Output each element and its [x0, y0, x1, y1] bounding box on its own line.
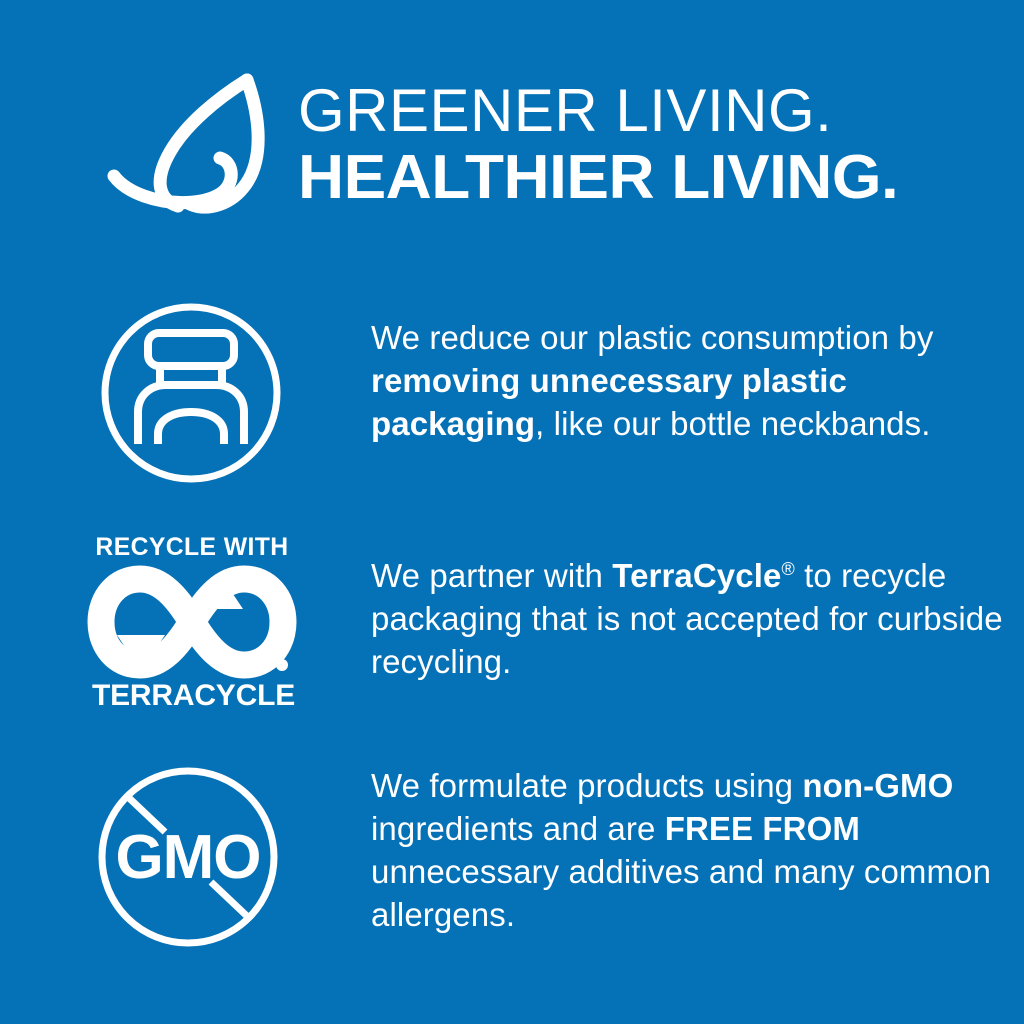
- header: GREENER LIVING. HEALTHIER LIVING.: [0, 0, 1024, 250]
- text-segment: We partner with: [371, 557, 612, 594]
- feature-row-gmo: GMO We formulate products using non-GMO …: [0, 760, 1024, 955]
- text-segment-bold: FREE FROM: [665, 810, 860, 847]
- text-segment: , like our bottle neckbands.: [535, 405, 930, 442]
- icon-cell-plastic: [0, 295, 300, 500]
- text-segment: We reduce our plastic consumption by: [371, 319, 933, 356]
- recycle-infinity-loop-icon: [91, 567, 293, 677]
- icon-cell-terracycle: RECYCLE WITH TERRACYCLE: [0, 530, 300, 715]
- terracycle-logo-icon: RECYCLE WITH TERRACYCLE: [92, 535, 292, 713]
- headline-line-2: HEALTHIER LIVING.: [298, 144, 1019, 212]
- feature-text-terracycle: We partner with TerraCycle® to recycle p…: [371, 554, 1004, 683]
- feature-text-plastic: We reduce our plastic consumption by rem…: [371, 316, 1004, 445]
- bottle-neckband-icon: [98, 300, 284, 486]
- leaf-icon: [108, 72, 288, 227]
- text-segment-bold: non-GMO: [802, 767, 953, 804]
- feature-text-gmo: We formulate products using non-GMO ingr…: [371, 764, 1004, 936]
- text-segment: unnecessary additives and many common al…: [371, 853, 991, 933]
- headline-block: GREENER LIVING. HEALTHIER LIVING.: [298, 80, 998, 212]
- text-cell-terracycle: We partner with TerraCycle® to recycle p…: [300, 530, 1024, 683]
- infographic-canvas: GREENER LIVING. HEALTHIER LIVING.: [0, 0, 1024, 1024]
- text-cell-gmo: We formulate products using non-GMO ingr…: [300, 760, 1024, 936]
- feature-row-terracycle: RECYCLE WITH TERRACYCLE: [0, 530, 1024, 715]
- text-cell-plastic: We reduce our plastic consumption by rem…: [300, 295, 1024, 445]
- feature-row-plastic: We reduce our plastic consumption by rem…: [0, 295, 1024, 500]
- terracycle-bottom-label: TERRACYCLE: [92, 681, 292, 711]
- headline-line-1: GREENER LIVING.: [298, 80, 998, 142]
- text-segment-bold: TerraCycle: [612, 557, 781, 594]
- no-gmo-icon: GMO: [95, 766, 281, 948]
- terracycle-top-label: RECYCLE WITH: [93, 535, 291, 560]
- text-segment: We formulate products using: [371, 767, 802, 804]
- icon-cell-gmo: GMO: [0, 760, 300, 955]
- gmo-label: GMO: [115, 823, 260, 892]
- registered-mark: ®: [781, 559, 794, 579]
- text-segment: ingredients and are: [371, 810, 665, 847]
